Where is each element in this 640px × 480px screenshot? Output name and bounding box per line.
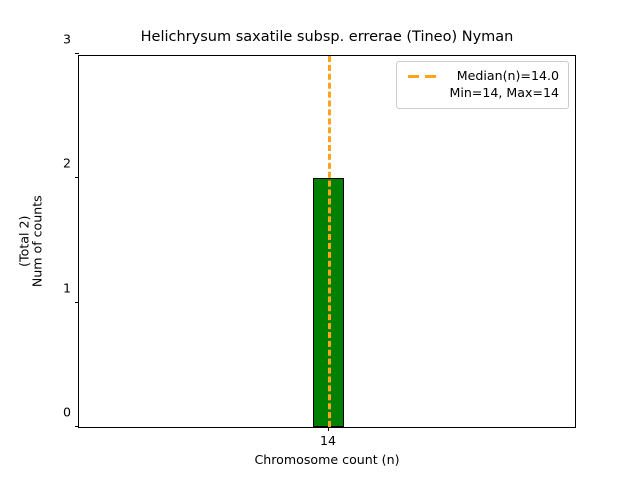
y-axis-label: (Total 2) Num of counts xyxy=(22,55,40,428)
y-tick-label-0: 0 xyxy=(63,405,71,420)
y-tick-mark-3 xyxy=(75,53,79,54)
plot-inner xyxy=(79,56,575,427)
y-axis-label-line1: Num of counts xyxy=(31,196,44,288)
x-tick-mark-14 xyxy=(328,427,329,431)
legend: Median(n)=14.0 Min=14, Max=14 xyxy=(396,61,569,109)
x-tick-label-14: 14 xyxy=(320,433,336,448)
chart-figure: Helichrysum saxatile subsp. errerae (Tin… xyxy=(0,0,640,480)
legend-entry-line2: Min=14, Max=14 xyxy=(449,85,559,102)
x-axis-label: Chromosome count (n) xyxy=(78,452,576,467)
median-line xyxy=(328,56,331,427)
plot-area: 0 1 2 3 14 Median(n)=14.0 Min=14, Max=14 xyxy=(78,55,576,428)
y-tick-label-1: 1 xyxy=(63,280,71,295)
legend-entry-text: Median(n)=14.0 Min=14, Max=14 xyxy=(449,68,559,101)
legend-dashed-line-icon xyxy=(406,68,440,84)
chart-title: Helichrysum saxatile subsp. errerae (Tin… xyxy=(78,29,576,45)
y-tick-label-2: 2 xyxy=(63,156,71,171)
legend-entry-line1: Median(n)=14.0 xyxy=(449,68,559,85)
y-tick-label-3: 3 xyxy=(63,32,71,47)
